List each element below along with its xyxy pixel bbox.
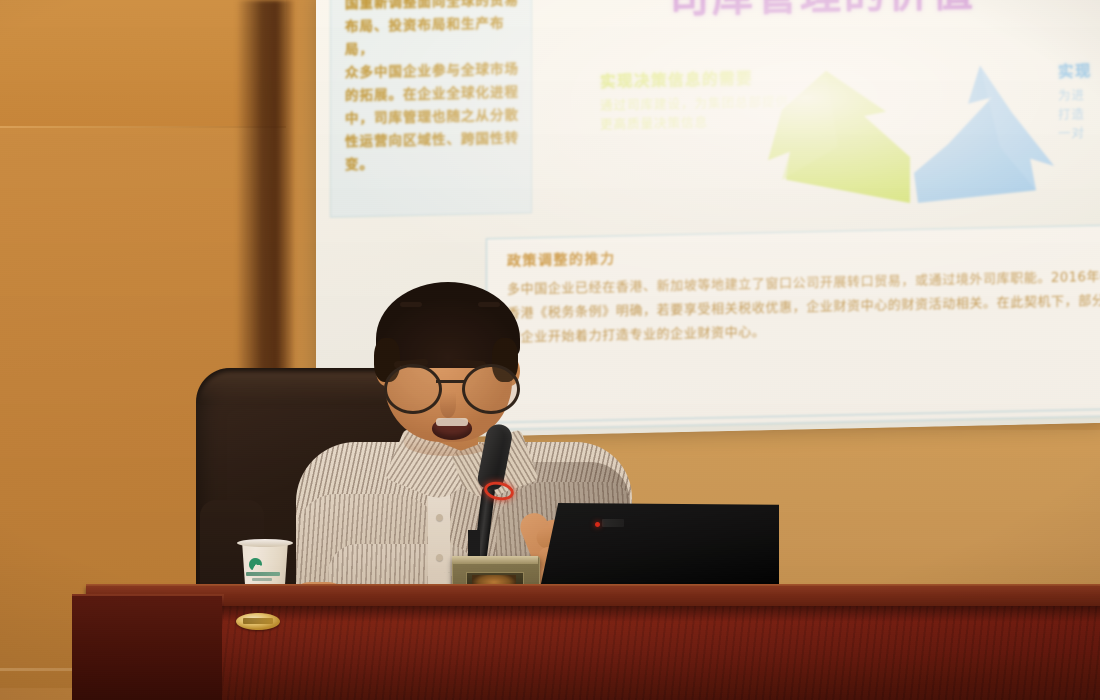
nose — [440, 392, 456, 418]
nameplate-top-edge — [452, 556, 538, 564]
lens-left — [384, 364, 442, 414]
cup-brand-text — [246, 572, 280, 576]
cup-brand-logo-icon — [249, 558, 262, 571]
laptop-brand-logo — [602, 519, 624, 527]
presentation-photo-scene: 司库管理的价值 “十三五” 战略机遇下，中 国重新调整面向全球的贸易 布局、投资… — [0, 0, 1100, 700]
lens-right — [462, 364, 520, 414]
teeth — [436, 418, 468, 426]
podium-left-block — [72, 596, 222, 700]
podium-brand-badge-text — [243, 618, 273, 624]
laptop-lid — [539, 503, 779, 593]
podium-top-rail — [86, 586, 1100, 608]
shirt-button-2 — [436, 554, 443, 561]
shirt-button-1 — [436, 514, 443, 521]
glasses-bridge — [436, 380, 464, 383]
laptop-power-led — [595, 522, 600, 527]
cup-brand-subtext — [252, 578, 272, 581]
paper-cup-rim — [237, 539, 293, 547]
eye-left-closed — [400, 302, 422, 307]
eye-right-closed — [478, 302, 500, 307]
